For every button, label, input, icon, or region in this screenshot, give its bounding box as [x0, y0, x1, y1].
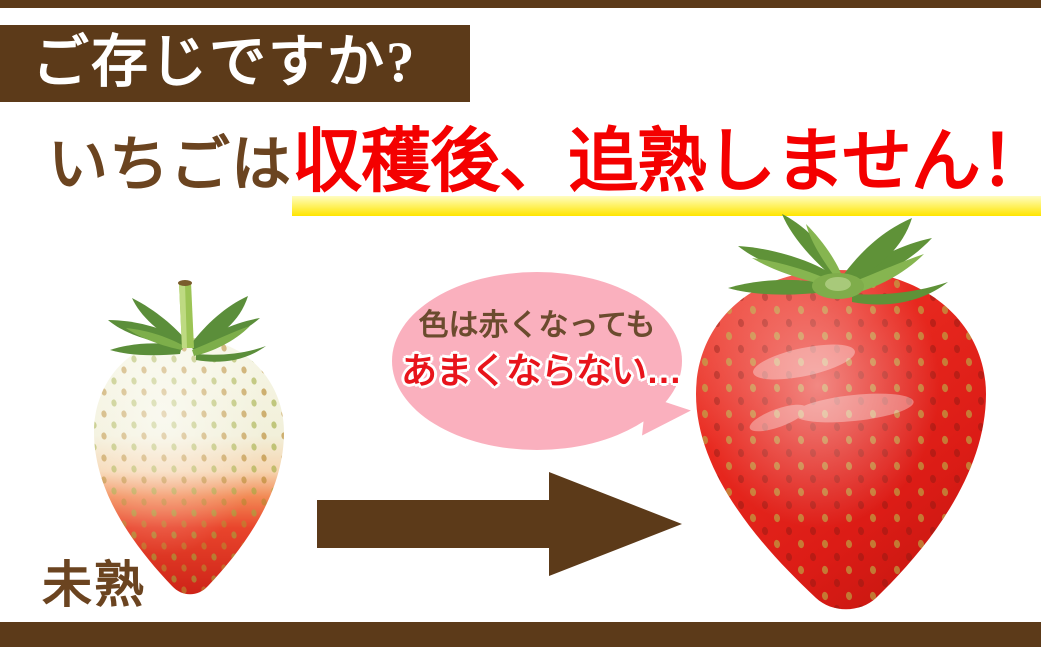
headline-plain-text: いちごは [48, 132, 292, 198]
headline: いちごは収穫後、追熟しません！ [0, 118, 1041, 208]
infographic-banner: ご存じですか? いちごは収穫後、追熟しません！ [0, 0, 1041, 647]
speech-bubble-line-2: あまくならない… [400, 342, 682, 394]
caption-unripe: 未熟 [42, 545, 146, 617]
transition-arrow [317, 470, 682, 578]
headline-accent-group: 収穫後、追熟しません！ [292, 118, 1041, 226]
headline-accent-text: 収穫後、追熟しません！ [292, 124, 1041, 201]
ripe-strawberry [686, 212, 994, 622]
bottom-rule [0, 622, 1041, 647]
top-rule [0, 0, 1041, 8]
speech-bubble: 色は赤くなっても あまくならない… [392, 272, 702, 452]
kicker-label: ご存じですか? [32, 27, 462, 99]
speech-bubble-line-1: 色は赤くなっても [408, 300, 666, 344]
